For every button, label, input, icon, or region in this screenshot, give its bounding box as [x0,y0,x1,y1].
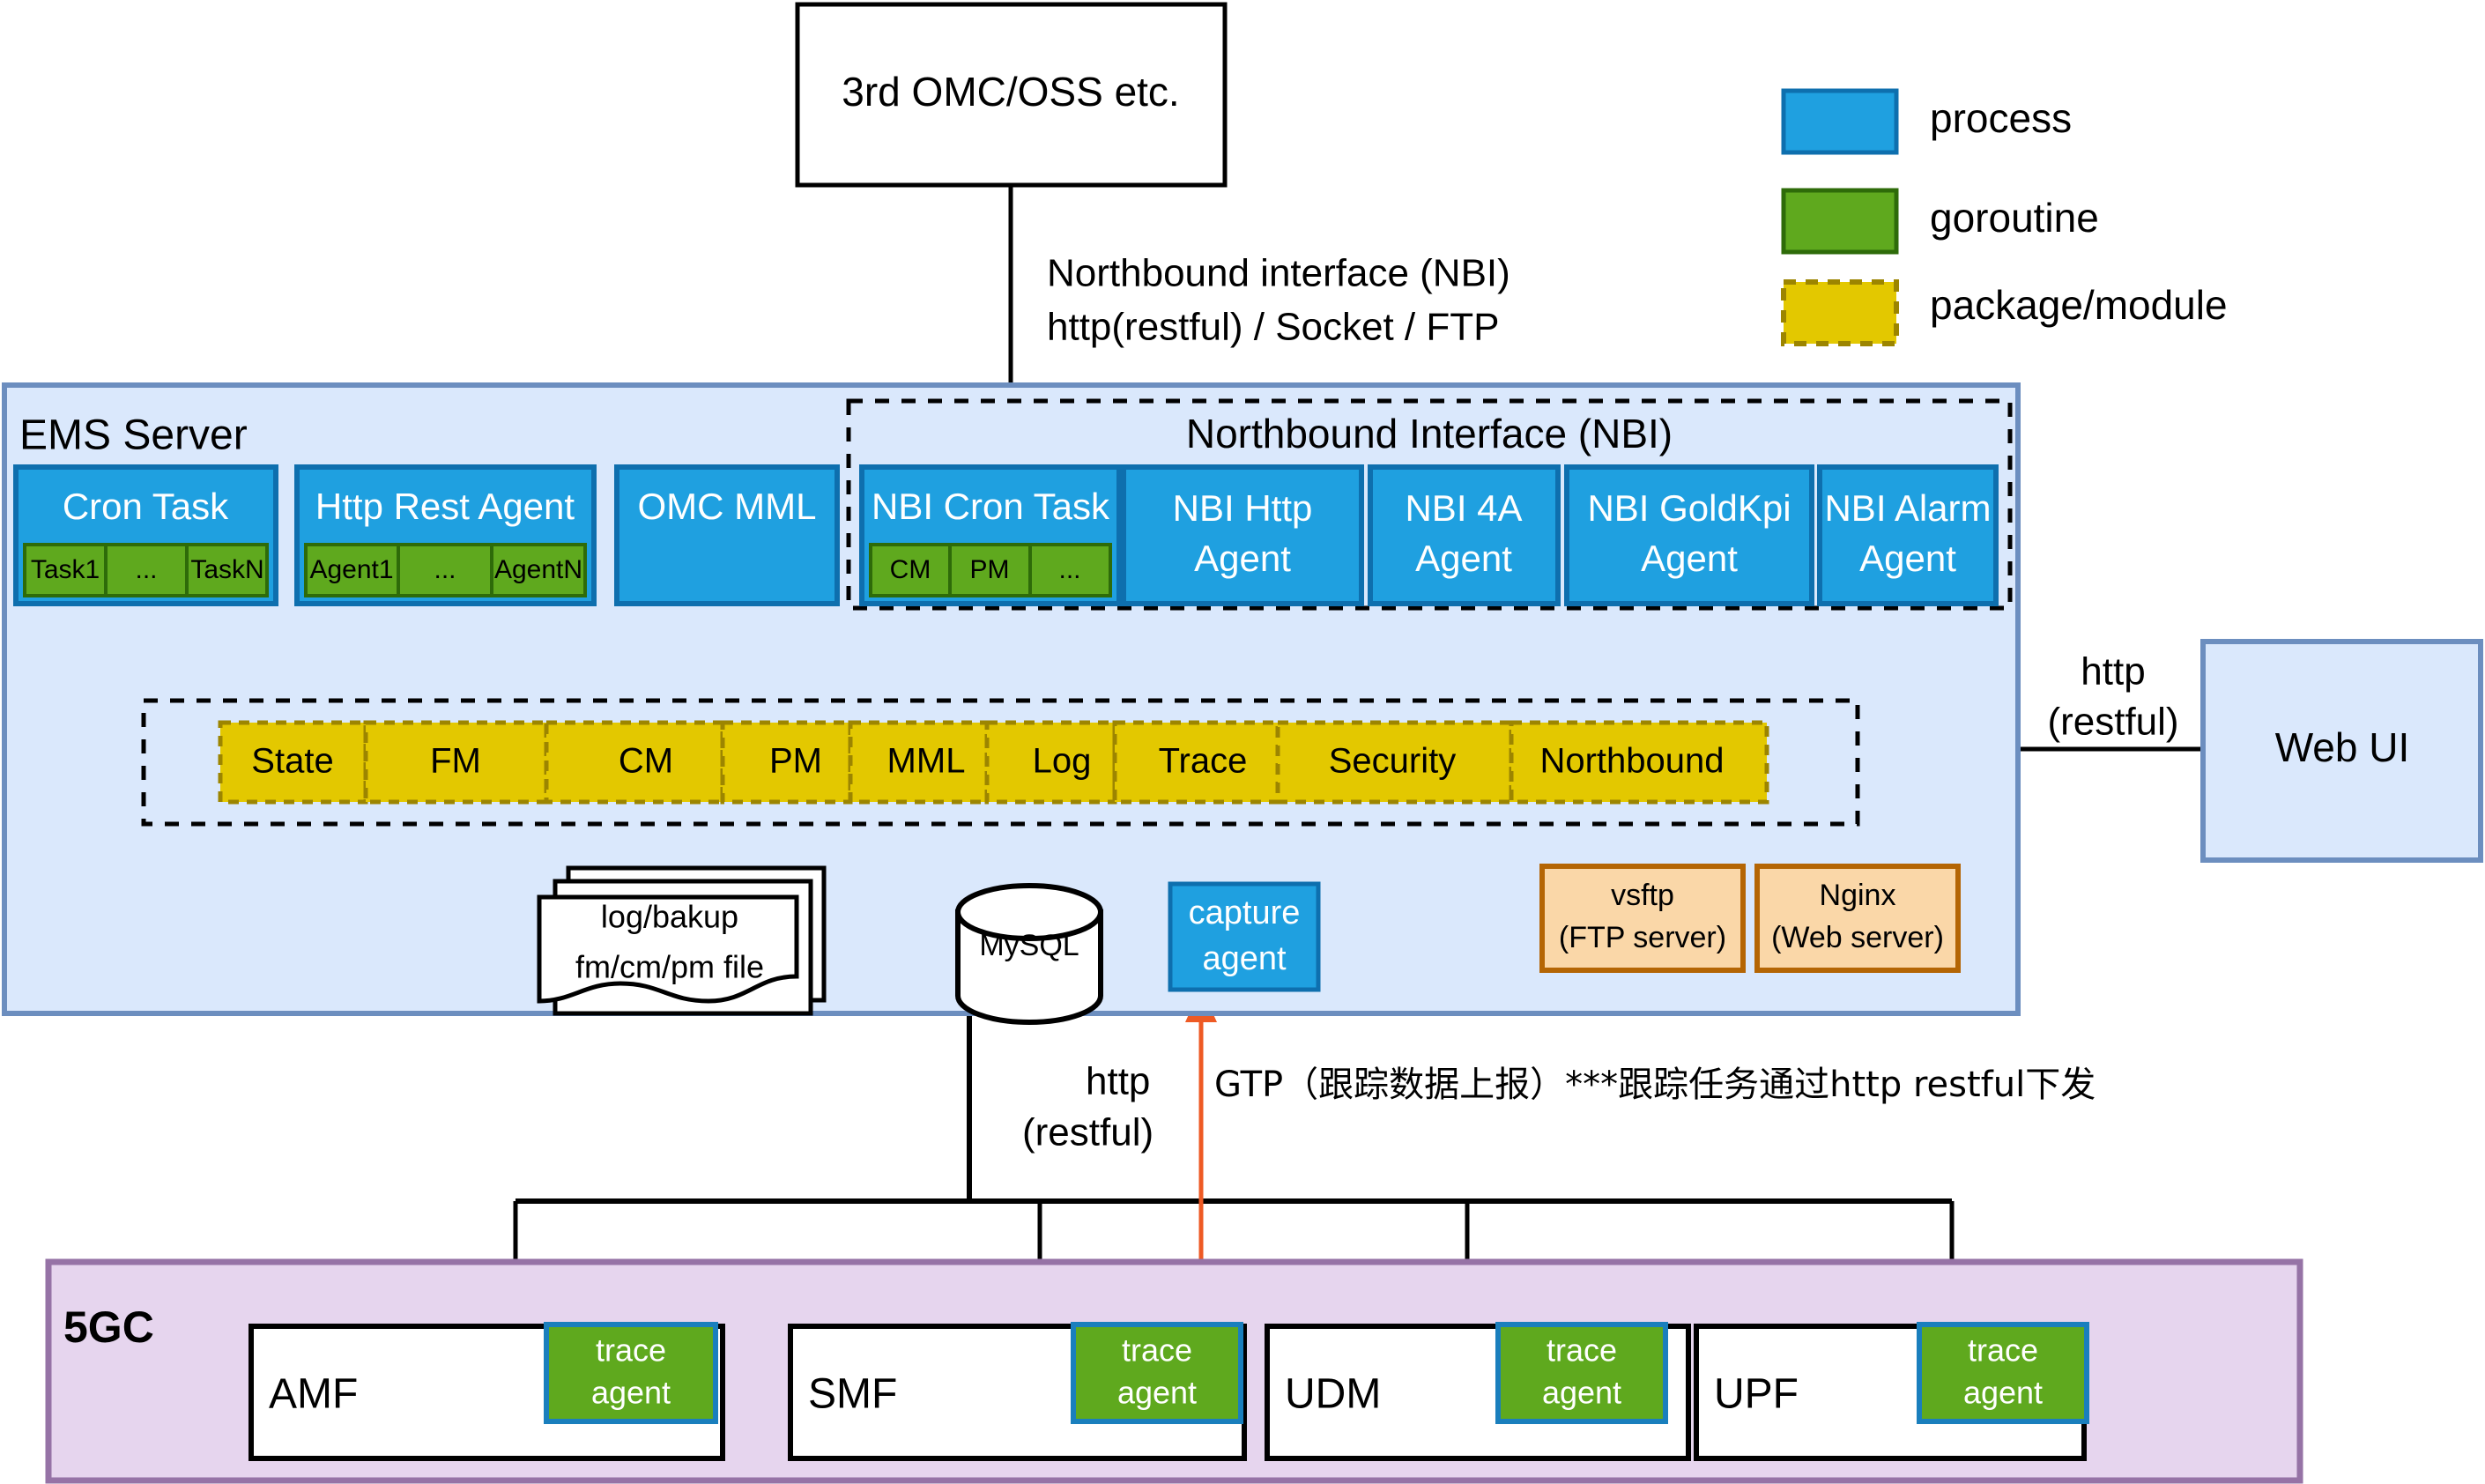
process-label-nbi-alarm-agent-line2: Agent [1859,538,1956,579]
nf-label-udm: UDM [1285,1371,1381,1418]
nf-label-upf: UPF [1714,1371,1799,1418]
vsftp-label-line1: vsftp [1611,879,1674,912]
goroutine-label: AgentN [494,555,582,584]
process-label-nbi-http-agent-line2: Agent [1194,538,1291,579]
nbi-group-label: Northbound Interface (NBI) [1186,411,1673,456]
process-label-nbi-alarm-agent-line1: NBI Alarm [1824,487,1991,529]
log-file-stack: log/bakup fm/cm/pm file [539,868,824,1013]
goroutine-group-nbi-cron-task: CM PM ... [871,545,1110,596]
goroutine-label: ... [1058,555,1080,584]
module-label: FM [430,742,481,781]
process-box-omc-mml[interactable]: OMC MML [617,467,837,604]
legend-swatch-package-module [1784,282,1896,344]
nbi-link-line1: Northbound interface (NBI) [1047,252,1510,295]
process-box-nbi-http-agent[interactable]: NBI Http Agent [1124,467,1361,604]
process-label-omc-mml: OMC MML [638,486,817,527]
legend-label-goroutine: goroutine [1930,195,2099,241]
process-box-nbi-cron-task[interactable]: NBI Cron Task CM PM ... [862,467,1119,604]
goroutine-label: CM [890,555,931,584]
process-label-nbi-4a-agent-line2: Agent [1415,538,1512,579]
legend-label-package-module: package/module [1930,282,2228,328]
process-label-nbi-http-agent-line1: NBI Http [1173,487,1313,529]
module-label: PM [769,742,822,781]
nf-box-udm[interactable]: UDM trace agent [1267,1324,1688,1458]
process-label-http-rest-agent: Http Rest Agent [315,486,575,527]
legend-swatch-process [1784,91,1896,152]
goroutine-label: TaskN [190,555,263,584]
module-label: CM [619,742,673,781]
module-label: Log [1033,742,1092,781]
goroutine-label: Task1 [31,555,100,584]
web-ui-box[interactable]: Web UI [2203,642,2481,860]
web-ui-label: Web UI [2275,724,2410,770]
module-label: State [251,742,333,781]
trace-agent-label-line2: agent [1117,1375,1197,1411]
process-box-http-rest-agent[interactable]: Http Rest Agent Agent1 ... AgentN [297,467,594,604]
http-restful-caption: http (restful) [1022,1060,1153,1154]
gc5-label: 5GC [63,1302,154,1352]
nf-label-amf: AMF [269,1371,358,1418]
nf-box-smf[interactable]: SMF trace agent [790,1324,1244,1458]
process-label-cron-task: Cron Task [63,486,229,527]
process-box-nbi-alarm-agent[interactable]: NBI Alarm Agent [1820,467,1996,604]
process-box-nbi-4a-agent[interactable]: NBI 4A Agent [1370,467,1558,604]
log-stack-label-line2: fm/cm/pm file [575,949,764,985]
trace-agent-box-amf[interactable]: trace agent [546,1324,716,1421]
trace-agent-label-line2: agent [1963,1375,2043,1411]
legend-swatch-goroutine [1784,190,1896,252]
trace-agent-box-udm[interactable]: trace agent [1498,1324,1665,1421]
web-ui-link-caption: http (restful) [2047,650,2178,744]
process-box-capture-agent[interactable]: capture agent [1170,884,1318,990]
nbi-link-caption: Northbound interface (NBI) http(restful)… [1047,252,1510,349]
trace-agent-box-upf[interactable]: trace agent [1919,1324,2087,1421]
vsftp-label-line2: (FTP server) [1559,921,1726,954]
legend: process goroutine package/module [1784,91,2228,344]
trace-agent-label-line1: trace [1968,1332,2038,1369]
process-box-nbi-goldkpi-agent[interactable]: NBI GoldKpi Agent [1567,467,1812,604]
nf-box-upf[interactable]: UPF trace agent [1696,1324,2087,1458]
module-label: Trace [1159,742,1248,781]
process-box-cron-task[interactable]: Cron Task Task1 ... TaskN [16,467,276,604]
ems-server-label: EMS Server [19,412,248,459]
process-label-nbi-cron-task: NBI Cron Task [872,486,1110,527]
module-label: Security [1329,742,1457,781]
mysql-label: MySQL [979,929,1079,962]
trace-agent-label-line1: trace [1122,1332,1192,1369]
goroutine-label: ... [135,555,157,584]
nginx-label-line2: (Web server) [1771,921,1944,954]
web-ui-link-line2: (restful) [2047,701,2178,744]
third-party-omc-label: 3rd OMC/OSS etc. [842,69,1179,115]
goroutine-label: ... [434,555,456,584]
gtp-note-label: GTP（跟踪数据上报）***跟踪任务通过http restful下发 [1214,1065,2096,1105]
http-link-line2: (restful) [1022,1111,1153,1154]
goroutine-group-cron-task: Task1 ... TaskN [25,545,267,596]
web-ui-link-line1: http [2081,650,2145,694]
trace-agent-label-line1: trace [596,1332,666,1369]
module-label: MML [887,742,966,781]
goroutine-group-http-rest-agent: Agent1 ... AgentN [306,545,585,596]
legend-label-process: process [1930,95,2072,141]
process-label-nbi-4a-agent-line1: NBI 4A [1405,487,1522,529]
module-label: Northbound [1539,742,1724,781]
nf-label-smf: SMF [808,1371,897,1418]
goroutine-label: PM [970,555,1010,584]
process-label-nbi-goldkpi-agent-line2: Agent [1641,538,1738,579]
capture-agent-label-line1: capture [1189,894,1301,931]
http-link-line1: http [1086,1060,1150,1103]
architecture-diagram: 3rd OMC/OSS etc. Northbound interface (N… [0,0,2485,1484]
trace-agent-label-line2: agent [1542,1375,1621,1411]
trace-agent-label-line2: agent [591,1375,671,1411]
capture-agent-label-line2: agent [1202,940,1287,977]
goroutine-label: Agent1 [309,555,393,584]
process-label-nbi-goldkpi-agent-line1: NBI GoldKpi [1587,487,1791,529]
server-box-vsftp[interactable]: vsftp (FTP server) [1542,866,1743,970]
third-party-omc-box[interactable]: 3rd OMC/OSS etc. [797,4,1225,185]
trace-agent-label-line1: trace [1547,1332,1617,1369]
nbi-link-line2: http(restful) / Socket / FTP [1047,306,1499,349]
trace-agent-box-smf[interactable]: trace agent [1073,1324,1241,1421]
log-stack-label-line1: log/bakup [601,899,738,935]
mysql-database-cylinder: MySQL [958,886,1101,1022]
nf-box-amf[interactable]: AMF trace agent [251,1324,723,1458]
module-bar: State FM CM PM MML Log Trace Security No… [220,723,1767,802]
nginx-label-line1: Nginx [1820,879,1896,912]
server-box-nginx[interactable]: Nginx (Web server) [1757,866,1958,970]
